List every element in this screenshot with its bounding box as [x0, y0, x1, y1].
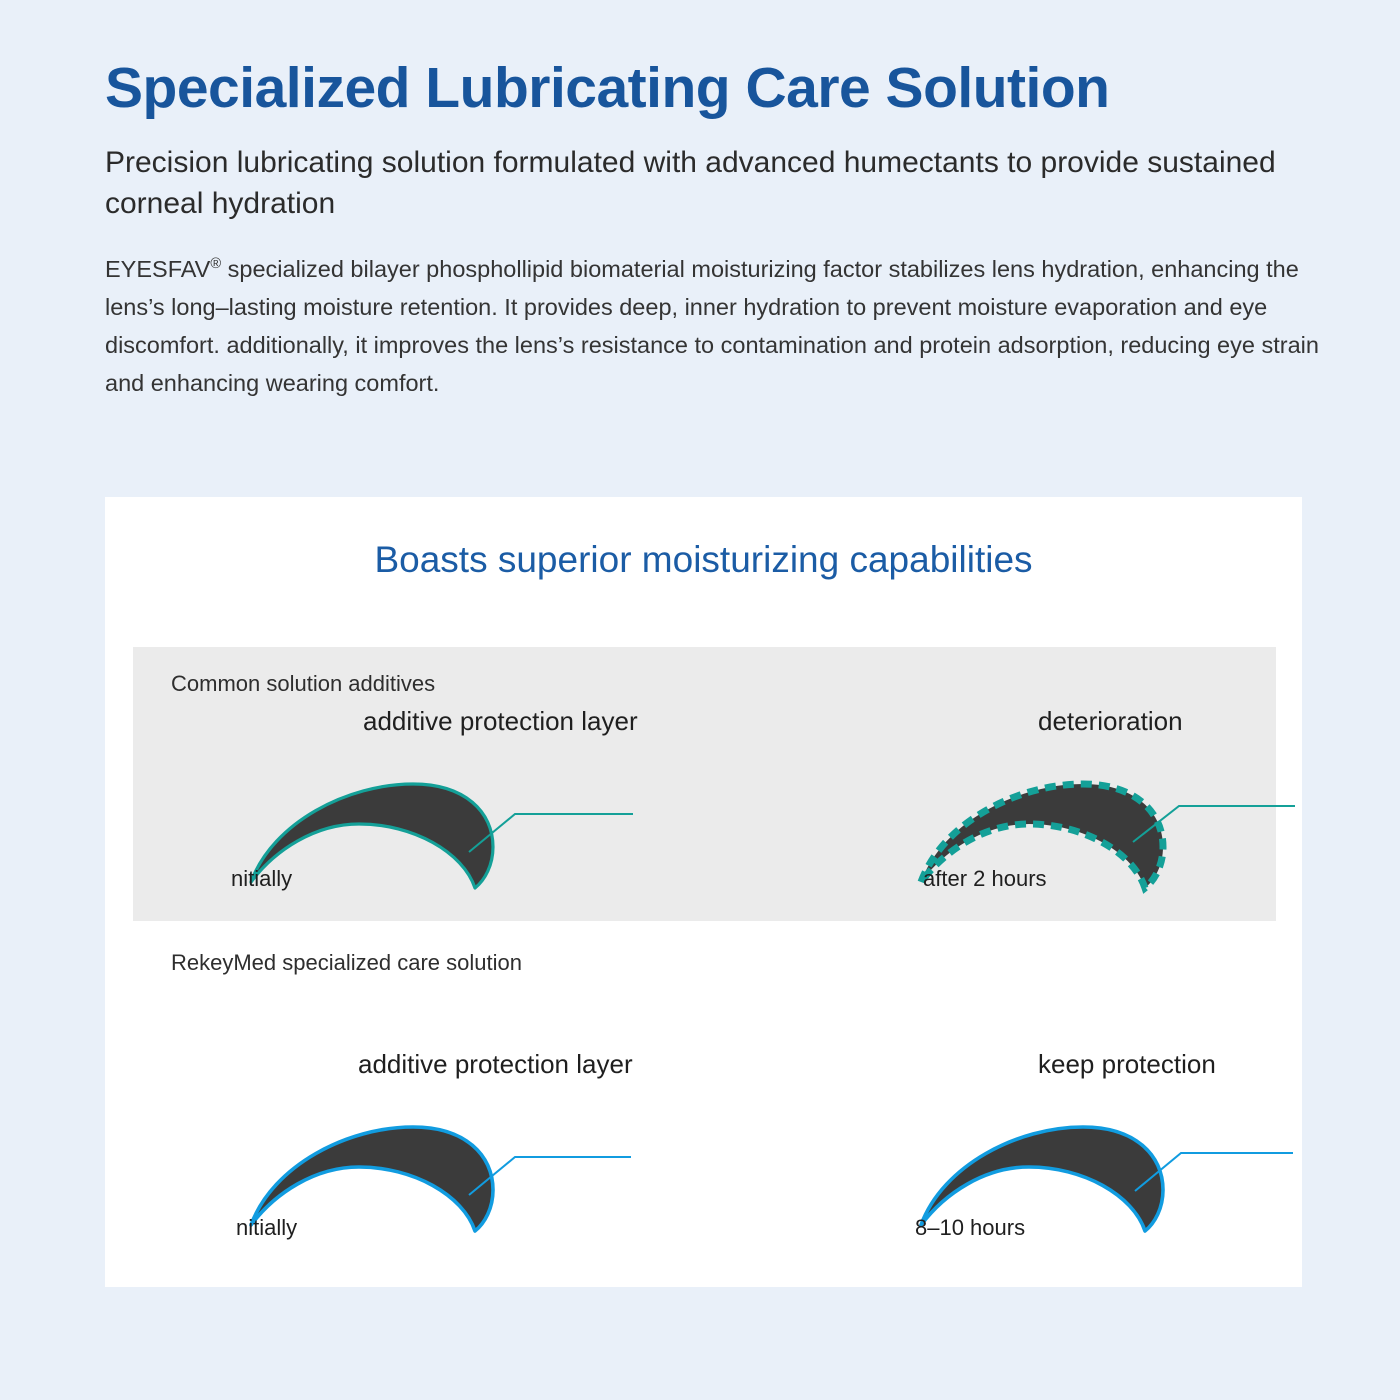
callout-keep-protection: keep protection: [1038, 1049, 1216, 1080]
comparison-card: Boasts superior moisturizing capabilitie…: [105, 497, 1302, 1287]
page-title: Specialized Lubricating Care Solution: [105, 58, 1340, 120]
caption-8-10-hours: 8–10 hours: [915, 1215, 1025, 1241]
figure-rekeymed-8-10-hours: keep protection 8–10 hours: [833, 1045, 1393, 1260]
callout-additive-protection-layer: additive protection layer: [363, 706, 638, 737]
page-subtitle: Precision lubricating solution formulate…: [105, 142, 1340, 224]
body-text: specialized bilayer phosphollipid biomat…: [105, 256, 1319, 396]
caption-initially: nitially: [231, 866, 292, 892]
card-heading: Boasts superior moisturizing capabilitie…: [105, 539, 1302, 581]
caption-initially: nitially: [236, 1215, 297, 1241]
figure-common-after-2-hours: deterioration after 2 hours: [833, 702, 1393, 917]
page-body-paragraph: EYESFAV® specialized bilayer phosphollip…: [105, 250, 1330, 402]
registered-trademark-icon: ®: [210, 256, 221, 272]
rekeymed-solution-panel: RekeyMed specialized care solution addit…: [133, 950, 1276, 1270]
caption-after-2-hours: after 2 hours: [923, 866, 1047, 892]
figure-common-initially: additive protection layer nitially: [163, 702, 723, 917]
section-label-rekeymed: RekeyMed specialized care solution: [171, 950, 522, 976]
common-additives-panel: Common solution additives additive prote…: [133, 647, 1276, 921]
callout-additive-protection-layer: additive protection layer: [358, 1049, 633, 1080]
figure-rekeymed-initially: additive protection layer nitially: [163, 1045, 723, 1260]
brand-name: EYESFAV: [105, 256, 210, 282]
header-block: Specialized Lubricating Care Solution Pr…: [105, 58, 1340, 402]
section-label-common: Common solution additives: [171, 671, 435, 697]
callout-deterioration: deterioration: [1038, 706, 1183, 737]
